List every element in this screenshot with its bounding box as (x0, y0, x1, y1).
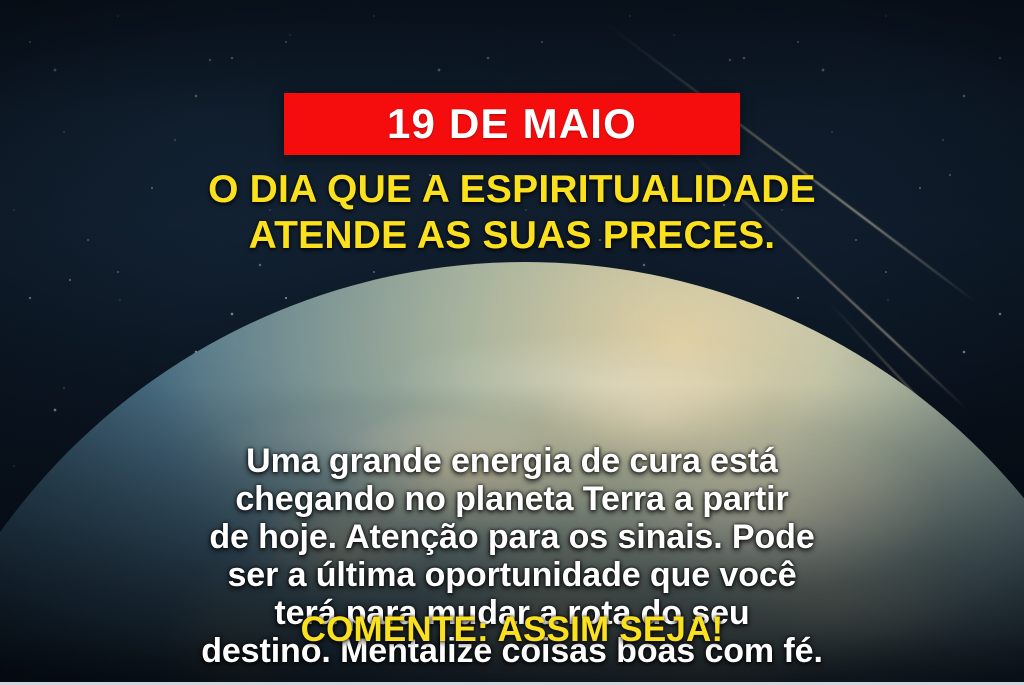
body-line-2: chegando no planeta Terra a partir (52, 481, 972, 519)
call-to-action-label: COMENTE: ASSIM SEJA! (0, 612, 1024, 647)
body-line-3: de hoje. Atenção para os sinais. Pode (52, 519, 972, 557)
headline: O DIA QUE A ESPIRITUALIDADE ATENDE AS SU… (0, 167, 1024, 258)
body-line-4: ser a última oportunidade que você (52, 557, 972, 595)
headline-line-1: O DIA QUE A ESPIRITUALIDADE (0, 167, 1024, 213)
body-line-1: Uma grande energia de cura está (52, 443, 972, 481)
headline-line-2: ATENDE AS SUAS PRECES. (0, 213, 1024, 259)
date-banner: 19 DE MAIO (284, 93, 740, 155)
poster-canvas: 19 DE MAIO O DIA QUE A ESPIRITUALIDADE A… (0, 0, 1024, 685)
poster-content: 19 DE MAIO O DIA QUE A ESPIRITUALIDADE A… (0, 0, 1024, 685)
date-banner-label: 19 DE MAIO (387, 103, 637, 145)
